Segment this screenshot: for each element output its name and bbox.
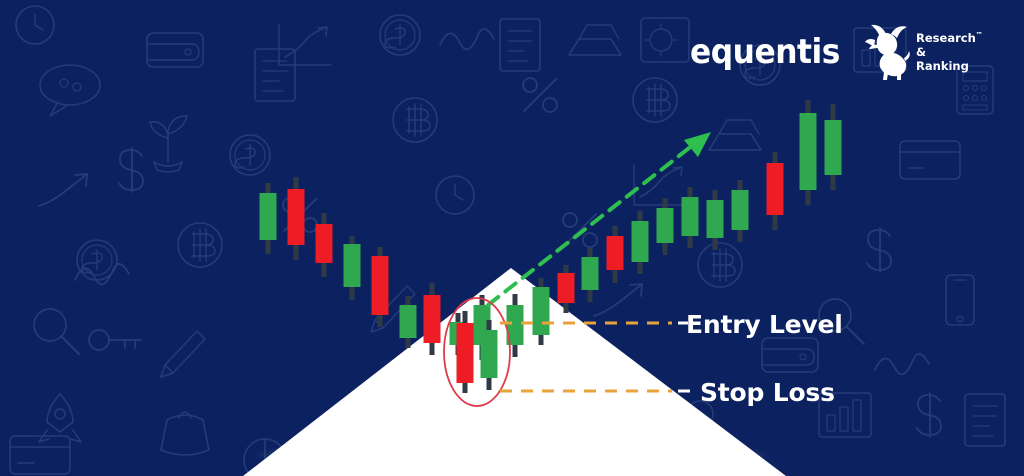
candle-body-up bbox=[682, 197, 699, 236]
tagline-ampersand: & bbox=[916, 45, 926, 59]
candle-body-up bbox=[400, 305, 417, 338]
bull-icon bbox=[859, 24, 911, 80]
candle-body-up bbox=[800, 113, 817, 190]
candle-body-up bbox=[533, 287, 550, 335]
uptrend-arrow-icon bbox=[488, 132, 711, 305]
promo-banner: Entry Level Stop Loss equentis bbox=[0, 0, 1024, 476]
candle-body-down bbox=[558, 273, 575, 303]
candle-body-down bbox=[372, 256, 389, 315]
candle-body-down bbox=[457, 323, 474, 383]
equentis-logo[interactable]: equentis Research™ bbox=[690, 22, 905, 82]
candle-body-up bbox=[260, 193, 277, 240]
candle-series bbox=[260, 100, 842, 393]
tagline-ranking: Ranking bbox=[916, 59, 969, 73]
candle-body-up bbox=[707, 200, 724, 238]
candle-body-down bbox=[316, 224, 333, 263]
candle-body-up bbox=[825, 120, 842, 175]
candle-body-up bbox=[732, 190, 749, 230]
candle-body-up bbox=[481, 330, 498, 378]
candle-body-down bbox=[767, 163, 784, 215]
candle-body-down bbox=[607, 236, 624, 270]
tagline-research: Research bbox=[916, 31, 976, 45]
candle-body-down bbox=[424, 295, 441, 343]
candle-body-up bbox=[632, 221, 649, 262]
candle-body-up bbox=[582, 257, 599, 290]
logo-wordmark: equentis bbox=[690, 35, 840, 69]
candle-body-up bbox=[344, 244, 361, 287]
entry-level-label: Entry Level bbox=[686, 310, 843, 339]
stop-loss-label: Stop Loss bbox=[700, 378, 835, 407]
logo-tagline: Research™ & Ranking bbox=[916, 31, 983, 73]
candle-body-up bbox=[657, 208, 674, 243]
trademark-icon: ™ bbox=[976, 31, 983, 39]
candle-body-down bbox=[288, 189, 305, 245]
